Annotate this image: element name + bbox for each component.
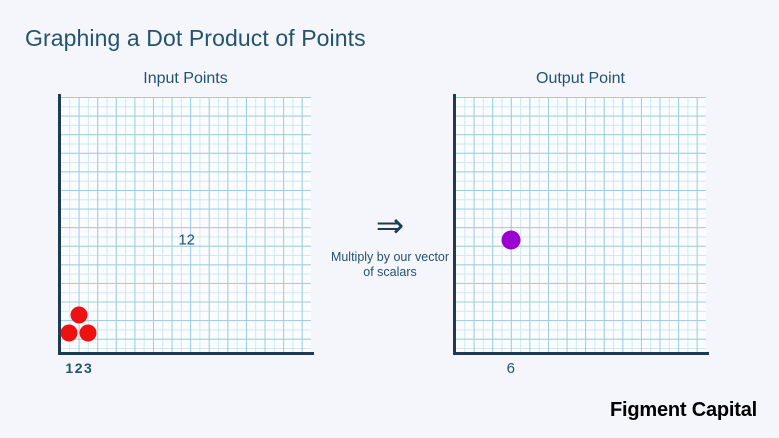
y-axis-input [58, 94, 61, 355]
grid-output [455, 97, 706, 352]
x-axis-tick-label: 2 [75, 360, 83, 376]
y-axis-output [453, 94, 456, 355]
data-point [70, 306, 87, 323]
data-point [79, 325, 96, 342]
x-axis-output [453, 352, 709, 355]
chart-title-output: Output Point [455, 70, 706, 88]
y-axis-tick-label: 12 [178, 232, 195, 249]
transform-caption: Multiply by our vector of scalars [330, 250, 450, 280]
data-point [61, 325, 78, 342]
plot-area-input [60, 97, 311, 352]
x-axis-tick-label: 3 [84, 360, 92, 376]
brand-logo: Figment Capital [610, 399, 757, 422]
x-axis-input [58, 352, 314, 355]
grid-input [60, 97, 311, 352]
data-point [501, 231, 520, 250]
double-right-arrow-icon: ⇒ [330, 208, 450, 244]
transform-annotation: ⇒ Multiply by our vector of scalars [330, 208, 450, 280]
x-axis-tick-label: 1 [65, 360, 73, 376]
plot-area-output [455, 97, 706, 352]
slide-canvas: Graphing a Dot Product of Points Input P… [0, 0, 779, 438]
page-title: Graphing a Dot Product of Points [25, 25, 366, 52]
x-axis-tick-label: 6 [507, 360, 515, 377]
chart-title-input: Input Points [60, 70, 311, 88]
